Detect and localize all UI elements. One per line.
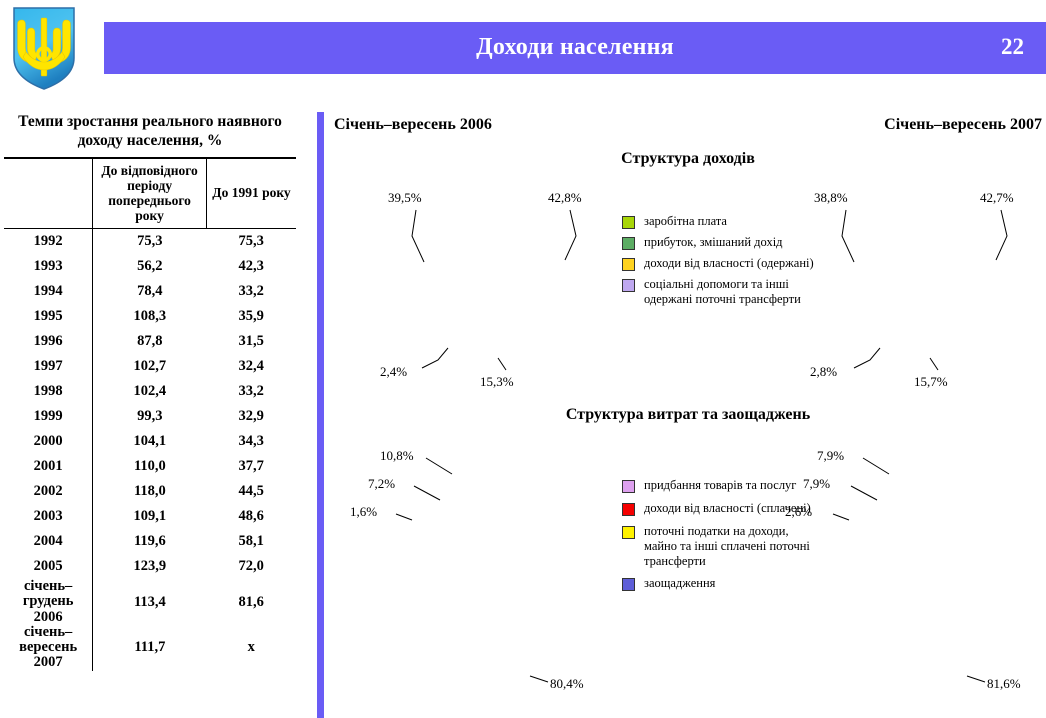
income-legend: заробітна платаприбуток, змішаний дохідд… <box>622 214 822 313</box>
rates-panel: Темпи зростання реального наявного доход… <box>0 112 300 671</box>
pie-leader-line <box>412 210 424 262</box>
income-legend-item: заробітна плата <box>622 214 822 229</box>
cell-year: 2005 <box>4 554 93 579</box>
legend-label: соціальні допомоги та інші одержані пото… <box>644 277 820 307</box>
pie-leader-line <box>967 676 985 682</box>
cell-year: січень–вересень2007 <box>4 625 93 671</box>
pie-leader-line <box>530 676 548 682</box>
table-row: 1995108,335,9 <box>4 304 296 329</box>
table-row: січень–грудень2006113,481,6 <box>4 579 296 625</box>
cell-base-1991: 32,9 <box>206 404 296 429</box>
pie-chart-income-2007: 42,7%15,7%2,8%38,8% <box>808 188 1046 393</box>
table-row: 2003109,148,6 <box>4 504 296 529</box>
cell-year: 2002 <box>4 479 93 504</box>
cell-prev-period: 104,1 <box>93 429 207 454</box>
pie-slice-label: 80,4% <box>550 676 584 692</box>
pie-slice-label: 15,7% <box>914 374 948 390</box>
pie-leader-line <box>422 348 448 368</box>
pie-slice-label: 15,3% <box>480 374 514 390</box>
table-row: 2001110,037,7 <box>4 454 296 479</box>
cell-base-1991: х <box>206 625 296 671</box>
legend-label: заробітна плата <box>644 214 727 229</box>
income-section-title: Структура доходів <box>330 150 1046 168</box>
pie-slice-label: 42,8% <box>548 190 582 206</box>
cell-year: 2004 <box>4 529 93 554</box>
pie-leader-line <box>842 210 854 262</box>
cell-year: 1996 <box>4 329 93 354</box>
pie-svg <box>808 188 1046 393</box>
col-header-prev-period: До відповідного періоду попереднього рок… <box>93 158 207 229</box>
cell-year: 1995 <box>4 304 93 329</box>
expenditure-section-title: Структура витрат та заощаджень <box>330 406 1046 424</box>
pie-leader-line <box>854 348 880 368</box>
pie-chart-expenditure-2006: 10,8%7,2%1,6%80,4% <box>350 448 610 708</box>
pie-slice-label: 2,8% <box>810 364 837 380</box>
cell-base-1991: 75,3 <box>206 229 296 255</box>
table-header-row: До відповідного періоду попереднього рок… <box>4 158 296 229</box>
cell-year: 2000 <box>4 429 93 454</box>
slide-header-bar: Доходи населення 22 <box>104 22 1046 74</box>
pie-leader-line <box>833 514 849 520</box>
income-growth-table: До відповідного періоду попереднього рок… <box>4 157 296 671</box>
pie-slice-label: 2,4% <box>380 364 407 380</box>
legend-color-swatch-icon <box>622 480 635 493</box>
legend-color-swatch-icon <box>622 237 635 250</box>
pie-leader-line <box>426 458 452 474</box>
cell-year: січень–грудень2006 <box>4 579 93 625</box>
cell-prev-period: 110,0 <box>93 454 207 479</box>
col-header-year <box>4 158 93 229</box>
legend-label: доходи від власності (одержані) <box>644 256 814 271</box>
cell-prev-period: 109,1 <box>93 504 207 529</box>
cell-base-1991: 48,6 <box>206 504 296 529</box>
table-row: 2004119,658,1 <box>4 529 296 554</box>
expenditure-legend-item: придбання товарів та послуг <box>622 478 822 493</box>
pie-slice-label: 38,8% <box>814 190 848 206</box>
table-row: 199275,375,3 <box>4 229 296 255</box>
cell-year: 1997 <box>4 354 93 379</box>
expenditure-legend-item: доходи від власності (сплачені) <box>622 501 822 516</box>
pie-slice-label: 10,8% <box>380 448 414 464</box>
table-title: Темпи зростання реального наявного доход… <box>0 112 300 157</box>
cell-prev-period: 87,8 <box>93 329 207 354</box>
cell-base-1991: 35,9 <box>206 304 296 329</box>
cell-prev-period: 75,3 <box>93 229 207 255</box>
cell-year: 2001 <box>4 454 93 479</box>
expenditure-legend-item: поточні податки на доходи, майно та інші… <box>622 524 822 568</box>
cell-prev-period: 118,0 <box>93 479 207 504</box>
cell-year: 1998 <box>4 379 93 404</box>
vertical-divider <box>317 112 324 718</box>
legend-color-swatch-icon <box>622 216 635 229</box>
page-title: Доходи населення <box>104 34 1046 61</box>
legend-label: придбання товарів та послуг <box>644 478 796 493</box>
cell-prev-period: 99,3 <box>93 404 207 429</box>
cell-base-1991: 72,0 <box>206 554 296 579</box>
pie-leader-line <box>996 210 1007 260</box>
table-row: 2000104,134,3 <box>4 429 296 454</box>
cell-base-1991: 42,3 <box>206 254 296 279</box>
cell-base-1991: 44,5 <box>206 479 296 504</box>
pie-leader-line <box>414 486 440 500</box>
cell-prev-period: 102,7 <box>93 354 207 379</box>
period-label-left: Січень–вересень 2006 <box>334 116 492 134</box>
pie-chart-expenditure-2007: 7,9%7,9%2,6%81,6% <box>785 448 1046 708</box>
cell-year: 1992 <box>4 229 93 255</box>
expenditure-legend: придбання товарів та послугдоходи від вл… <box>622 478 822 599</box>
pie-slice-label: 1,6% <box>350 504 377 520</box>
pie-slice-label: 7,9% <box>817 448 844 464</box>
cell-prev-period: 119,6 <box>93 529 207 554</box>
cell-base-1991: 33,2 <box>206 379 296 404</box>
table-row: 199687,831,5 <box>4 329 296 354</box>
legend-label: поточні податки на доходи, майно та інші… <box>644 524 820 568</box>
legend-color-swatch-icon <box>622 578 635 591</box>
legend-color-swatch-icon <box>622 503 635 516</box>
cell-year: 1994 <box>4 279 93 304</box>
cell-base-1991: 32,4 <box>206 354 296 379</box>
legend-label: прибуток, змішаний дохід <box>644 235 783 250</box>
income-legend-item: прибуток, змішаний дохід <box>622 235 822 250</box>
table-row: січень–вересень2007111,7х <box>4 625 296 671</box>
table-row: 2002118,044,5 <box>4 479 296 504</box>
cell-base-1991: 58,1 <box>206 529 296 554</box>
cell-prev-period: 102,4 <box>93 379 207 404</box>
table-row: 1998102,433,2 <box>4 379 296 404</box>
legend-label: заощадження <box>644 576 715 591</box>
cell-base-1991: 37,7 <box>206 454 296 479</box>
table-row: 199356,242,3 <box>4 254 296 279</box>
cell-prev-period: 78,4 <box>93 279 207 304</box>
pie-slice-label: 42,7% <box>980 190 1014 206</box>
col-header-base-1991: До 1991 року <box>206 158 296 229</box>
table-row: 199999,332,9 <box>4 404 296 429</box>
legend-color-swatch-icon <box>622 258 635 271</box>
table-row: 199478,433,2 <box>4 279 296 304</box>
pie-leader-line <box>565 210 576 260</box>
pie-leader-line <box>396 514 412 520</box>
legend-color-swatch-icon <box>622 526 635 539</box>
expenditure-legend-item: заощадження <box>622 576 822 591</box>
cell-prev-period: 113,4 <box>93 579 207 625</box>
cell-prev-period: 56,2 <box>93 254 207 279</box>
cell-prev-period: 108,3 <box>93 304 207 329</box>
table-header: До відповідного періоду попереднього рок… <box>4 158 296 229</box>
table-row: 2005123,972,0 <box>4 554 296 579</box>
pie-leader-line <box>498 358 506 370</box>
cell-base-1991: 81,6 <box>206 579 296 625</box>
cell-prev-period: 111,7 <box>93 625 207 671</box>
income-legend-item: доходи від власності (одержані) <box>622 256 822 271</box>
legend-color-swatch-icon <box>622 279 635 292</box>
cell-base-1991: 34,3 <box>206 429 296 454</box>
cell-year: 1993 <box>4 254 93 279</box>
table-body: 199275,375,3199356,242,3199478,433,21995… <box>4 229 296 671</box>
period-label-right: Січень–вересень 2007 <box>884 116 1042 134</box>
page-number: 22 <box>1001 34 1024 60</box>
pie-svg <box>380 188 610 393</box>
pie-slice-label: 39,5% <box>388 190 422 206</box>
charts-panel: Січень–вересень 2006 Січень–вересень 200… <box>330 108 1046 718</box>
legend-label: доходи від власності (сплачені) <box>644 501 811 516</box>
cell-year: 1999 <box>4 404 93 429</box>
pie-slice-label: 7,2% <box>368 476 395 492</box>
pie-leader-line <box>930 358 938 370</box>
ukraine-coat-of-arms-emblem <box>8 4 80 92</box>
table-row: 1997102,732,4 <box>4 354 296 379</box>
pie-leader-line <box>851 486 877 500</box>
income-legend-item: соціальні допомоги та інші одержані пото… <box>622 277 822 307</box>
cell-base-1991: 33,2 <box>206 279 296 304</box>
pie-chart-income-2006: 42,8%15,3%2,4%39,5% <box>380 188 610 393</box>
pie-slice-label: 81,6% <box>987 676 1021 692</box>
cell-prev-period: 123,9 <box>93 554 207 579</box>
cell-base-1991: 31,5 <box>206 329 296 354</box>
pie-leader-line <box>863 458 889 474</box>
cell-year: 2003 <box>4 504 93 529</box>
